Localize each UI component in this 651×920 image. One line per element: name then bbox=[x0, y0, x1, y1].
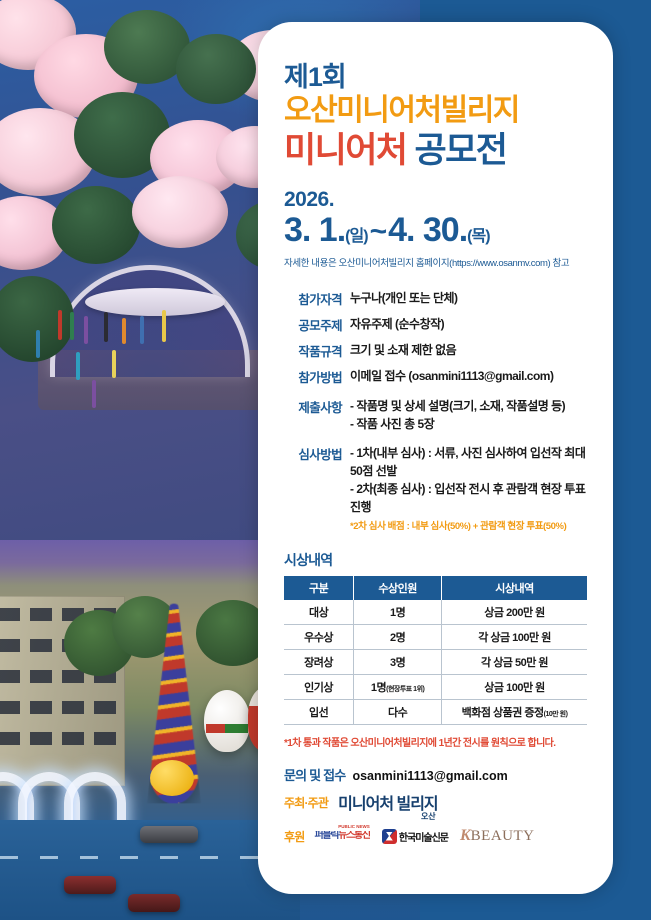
info-label: 심사방법 bbox=[284, 444, 342, 463]
contact-label: 문의 및 접수 bbox=[284, 765, 345, 784]
photo-car bbox=[64, 876, 116, 894]
info-row-method: 참가방법 이메일 접수 (osanmini1113@gmail.com) bbox=[284, 367, 587, 386]
prize-cell-category: 인기상 bbox=[284, 675, 354, 700]
info-value: 이메일 접수 (osanmini1113@gmail.com) bbox=[350, 367, 553, 385]
prize-cell-category: 장려상 bbox=[284, 650, 354, 675]
sponsor-name-k: K bbox=[460, 827, 471, 845]
sponsor-name-text: 퍼블릭뉴스통신 bbox=[314, 830, 369, 841]
sponsor-name-text: 한국미술신문 bbox=[399, 829, 448, 844]
poster-main-title: 미니어처 공모전 bbox=[284, 130, 587, 172]
date-year: 2026. bbox=[284, 188, 587, 212]
info-row-spec: 작품규격 크기 및 소재 제한 없음 bbox=[284, 341, 587, 360]
photo-car bbox=[128, 894, 180, 912]
info-value: - 1차(내부 심사) : 서류, 사진 심사하여 입선작 최대 50점 선발 … bbox=[350, 444, 587, 534]
info-label: 참가방법 bbox=[284, 367, 342, 386]
prize-header-reward: 시상내역 bbox=[442, 576, 587, 600]
date-start-dow: (일) bbox=[345, 228, 367, 245]
photo-figure bbox=[76, 352, 80, 380]
prize-table: 구분 수상인원 시상내역 대상 1명 상금 200만 원 우수상 2명 각 상금… bbox=[284, 576, 587, 725]
photo-green-tree bbox=[52, 186, 140, 264]
info-row-submission: 제출사항 - 작품명 및 상세 설명(크기, 소재, 작품설명 등) - 작품 … bbox=[284, 397, 587, 433]
table-row: 장려상 3명 각 상금 50만 원 bbox=[284, 650, 587, 675]
prize-cell-reward: 백화점 상품권 증정(10만 원) bbox=[442, 700, 587, 725]
poster-edition-title: 제1회 bbox=[284, 62, 587, 93]
prize-header-count: 수상인원 bbox=[354, 576, 442, 600]
prize-count-sub: (현장투표 1위) bbox=[386, 686, 424, 693]
info-label: 작품규격 bbox=[284, 341, 342, 360]
photo-car bbox=[140, 826, 198, 843]
prize-cell-category: 입선 bbox=[284, 700, 354, 725]
photo-figure bbox=[58, 310, 62, 340]
poster-root: 제1회 오산미니어처빌리지 미니어처 공모전 2026. 3. 1.(일)~4.… bbox=[0, 0, 651, 920]
table-row: 대상 1명 상금 200만 원 bbox=[284, 600, 587, 625]
sponsor-logo-public-news: 퍼블릭뉴스통신 PUBLIC NEWS bbox=[314, 831, 369, 841]
host-row: 주최·주관 미니어처 빌리지 오산 bbox=[284, 790, 589, 814]
photo-figure bbox=[70, 312, 74, 340]
date-tilde: ~ bbox=[368, 215, 389, 248]
prize-cell-count: 3명 bbox=[354, 650, 442, 675]
submission-line-1: - 작품명 및 상세 설명(크기, 소재, 작품설명 등) bbox=[350, 397, 565, 415]
photo-figure bbox=[122, 318, 126, 344]
poster-main-title-red: 미니어처 bbox=[284, 131, 406, 170]
prize-count-value: 다수 bbox=[388, 707, 407, 719]
prize-header-category: 구분 bbox=[284, 576, 354, 600]
prize-cell-category: 대상 bbox=[284, 600, 354, 625]
info-value: 자유주제 (순수창작) bbox=[350, 315, 444, 333]
photo-figure bbox=[140, 316, 144, 344]
photo-blossom-tree bbox=[132, 176, 228, 248]
prize-cell-count: 1명 bbox=[354, 600, 442, 625]
photo-figure bbox=[162, 310, 166, 342]
prize-reward-value: 각 상금 50만 원 bbox=[481, 657, 548, 669]
date-range: 3. 1.(일)~4. 30.(목) bbox=[284, 212, 587, 249]
prize-reward-value: 각 상금 100만 원 bbox=[478, 632, 551, 644]
info-label: 제출사항 bbox=[284, 397, 342, 416]
date-end-dow: (목) bbox=[467, 228, 489, 245]
table-row: 입선 다수 백화점 상품권 증정(10만 원) bbox=[284, 700, 587, 725]
photo-figure bbox=[104, 312, 108, 342]
prize-count-value: 1명 bbox=[390, 607, 405, 619]
poster-organizer-title: 오산미니어처빌리지 bbox=[284, 93, 587, 130]
photo-figure bbox=[112, 350, 116, 378]
judging-line-2: - 2차(최종 심사) : 입선작 전시 후 관람객 현장 투표 진행 bbox=[350, 480, 587, 516]
judging-score-note: *2차 심사 배점 : 내부 심사(50%) + 관람객 현장 투표(50%) bbox=[350, 521, 566, 532]
sponsor-name: 퍼블릭뉴스통신 PUBLIC NEWS bbox=[314, 831, 369, 841]
prize-cell-reward: 상금 200만 원 bbox=[442, 600, 587, 625]
poster-main-title-blue: 공모전 bbox=[415, 131, 507, 170]
sponsor-logo-k-beauty: K BEAUTY bbox=[460, 827, 535, 845]
prize-reward-value: 상금 100만 원 bbox=[484, 682, 544, 694]
poster-footer: 주최·주관 미니어처 빌리지 오산 후원 퍼블릭뉴스통신 PUBLIC NEWS… bbox=[284, 790, 589, 858]
prize-cell-count: 다수 bbox=[354, 700, 442, 725]
info-row-eligibility: 참가자격 누구나(개인 또는 단체) bbox=[284, 289, 587, 308]
sponsor-name-sup: PUBLIC NEWS bbox=[338, 825, 370, 830]
table-row: 우수상 2명 각 상금 100만 원 bbox=[284, 625, 587, 650]
host-brand-sub: 오산 bbox=[421, 811, 436, 822]
host-label: 주최·주관 bbox=[284, 794, 328, 811]
exhibition-warning-note: *1차 통과 작품은 오산미니어처빌리지에 1년간 전시를 원칙으로 합니다. bbox=[284, 734, 587, 749]
prize-cell-count: 2명 bbox=[354, 625, 442, 650]
prize-count-value: 1명 bbox=[371, 682, 386, 694]
prize-section-title: 시상내역 bbox=[284, 550, 587, 570]
prize-cell-reward: 각 상금 50만 원 bbox=[442, 650, 587, 675]
submission-line-2: - 작품 사진 총 5장 bbox=[350, 415, 565, 433]
host-brand-logo: 미니어처 빌리지 오산 bbox=[338, 790, 438, 814]
info-value: 누구나(개인 또는 단체) bbox=[350, 289, 458, 307]
prize-cell-category: 우수상 bbox=[284, 625, 354, 650]
sponsor-logo-korea-art-news: 한국미술신문 bbox=[382, 829, 448, 844]
prize-cell-reward: 각 상금 100만 원 bbox=[442, 625, 587, 650]
table-row: 인기상 1명(현장투표 1위) 상금 100만 원 bbox=[284, 675, 587, 700]
photo-snowman bbox=[204, 690, 250, 752]
prize-reward-value: 백화점 상품권 증정 bbox=[462, 707, 544, 719]
info-label: 참가자격 bbox=[284, 289, 342, 308]
prize-reward-value: 상금 200만 원 bbox=[484, 607, 544, 619]
info-row-theme: 공모주제 자유주제 (순수창작) bbox=[284, 315, 587, 334]
prize-cell-reward: 상금 100만 원 bbox=[442, 675, 587, 700]
sponsor-name-beauty: BEAUTY bbox=[471, 828, 535, 845]
info-value: 크기 및 소재 제한 없음 bbox=[350, 341, 456, 359]
info-label: 공모주제 bbox=[284, 315, 342, 334]
korea-flag-mark-icon bbox=[382, 829, 397, 844]
info-value: - 작품명 및 상세 설명(크기, 소재, 작품설명 등) - 작품 사진 총 … bbox=[350, 397, 565, 433]
photo-spiral-tower-ball bbox=[150, 760, 194, 796]
photo-figure bbox=[84, 316, 88, 344]
prize-cell-count: 1명(현장투표 1위) bbox=[354, 675, 442, 700]
date-start: 3. 1. bbox=[284, 211, 345, 249]
homepage-note: 자세한 내용은 오산미니어처빌리지 홈페이지(https://www.osanm… bbox=[284, 255, 587, 269]
contact-block: 문의 및 접수 osanmini1113@gmail.com bbox=[284, 765, 587, 784]
photo-green-tree bbox=[176, 34, 256, 104]
sponsor-label: 후원 bbox=[284, 828, 304, 845]
prize-table-header-row: 구분 수상인원 시상내역 bbox=[284, 576, 587, 600]
content-card: 제1회 오산미니어처빌리지 미니어처 공모전 2026. 3. 1.(일)~4.… bbox=[258, 22, 613, 894]
sponsor-row: 후원 퍼블릭뉴스통신 PUBLIC NEWS 한국미술신문 K BEAUTY bbox=[284, 827, 589, 845]
photo-figure bbox=[36, 330, 40, 358]
info-list: 참가자격 누구나(개인 또는 단체) 공모주제 자유주제 (순수창작) 작품규격… bbox=[284, 289, 587, 534]
prize-count-value: 3명 bbox=[390, 657, 405, 669]
info-row-judging: 심사방법 - 1차(내부 심사) : 서류, 사진 심사하여 입선작 최대 50… bbox=[284, 444, 587, 534]
prize-reward-sub: (10만 원) bbox=[544, 711, 568, 718]
prize-count-value: 2명 bbox=[390, 632, 405, 644]
contact-email[interactable]: osanmini1113@gmail.com bbox=[352, 769, 507, 783]
judging-line-1: - 1차(내부 심사) : 서류, 사진 심사하여 입선작 최대 50점 선발 bbox=[350, 444, 587, 480]
date-end: 4. 30. bbox=[388, 211, 467, 249]
photo-figure bbox=[92, 380, 96, 408]
